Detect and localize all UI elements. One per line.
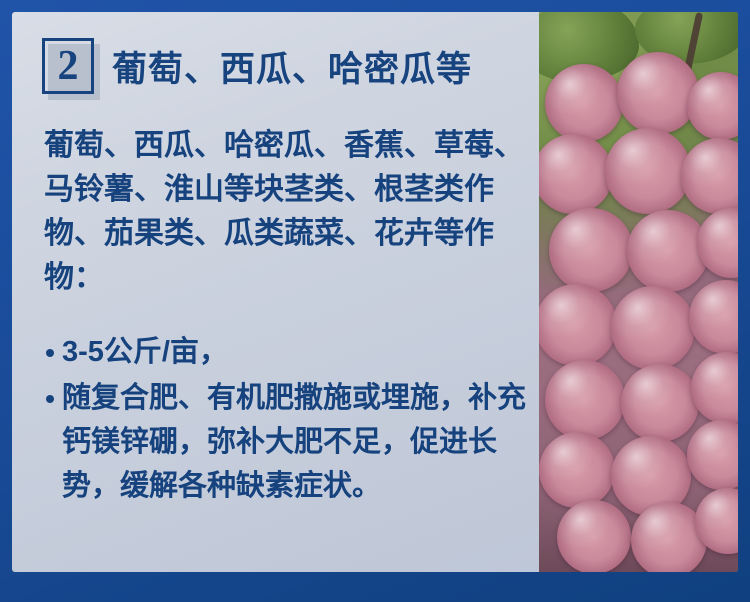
- grape-berry: [617, 52, 699, 134]
- grape-berry: [627, 210, 709, 292]
- poster-page: 2 葡萄、西瓜、哈密瓜等 葡萄、西瓜、哈密瓜、香蕉、草莓、马铃薯、淮山等块茎类、…: [0, 0, 750, 602]
- bullet-dot-icon: [46, 395, 54, 403]
- list-item-label: 随复合肥、有机肥撒施或埋施，补充钙镁锌硼，弥补大肥不足，促进长势，缓解各种缺素症…: [62, 376, 546, 508]
- list-item: 随复合肥、有机肥撒施或埋施，补充钙镁锌硼，弥补大肥不足，促进长势，缓解各种缺素症…: [46, 376, 546, 508]
- page-title: 葡萄、西瓜、哈密瓜等: [112, 41, 472, 92]
- crop-list-paragraph: 葡萄、西瓜、哈密瓜、香蕉、草莓、马铃薯、淮山等块茎类、根茎类作物、茄果类、瓜类蔬…: [44, 124, 536, 300]
- grape-berry: [545, 360, 625, 440]
- grape-berry: [539, 432, 615, 508]
- grape-berry: [611, 286, 695, 370]
- title-row: 2 葡萄、西瓜、哈密瓜等: [42, 38, 472, 94]
- grape-berry: [545, 64, 623, 142]
- grape-berry: [621, 364, 699, 442]
- grape-berry: [605, 128, 691, 214]
- grape-berry: [549, 208, 633, 292]
- number-badge: 2: [42, 38, 94, 94]
- bullet-list: 3-5公斤/亩， 随复合肥、有机肥撒施或埋施，补充钙镁锌硼，弥补大肥不足，促进长…: [46, 330, 546, 510]
- grape-berry: [557, 500, 631, 572]
- content-card: 2 葡萄、西瓜、哈密瓜等 葡萄、西瓜、哈密瓜、香蕉、草莓、马铃薯、淮山等块茎类、…: [12, 12, 738, 572]
- text-column: 2 葡萄、西瓜、哈密瓜等 葡萄、西瓜、哈密瓜、香蕉、草莓、马铃薯、淮山等块茎类、…: [12, 12, 539, 572]
- grape-photo: [539, 12, 738, 572]
- list-item-label: 3-5公斤/亩，: [62, 330, 546, 374]
- list-item: 3-5公斤/亩，: [46, 330, 546, 374]
- bullet-dot-icon: [46, 349, 54, 357]
